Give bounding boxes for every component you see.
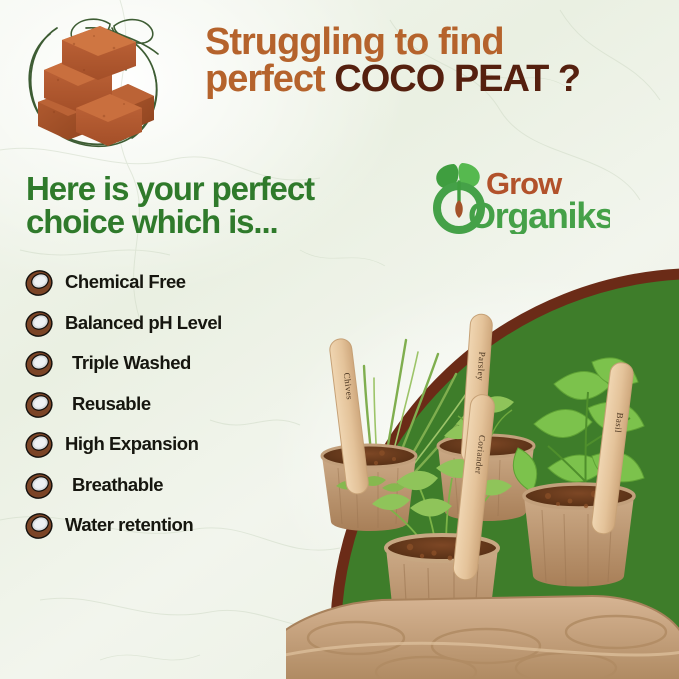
list-item: High Expansion (24, 424, 300, 465)
marker-label-parsley: Parsley (475, 351, 487, 381)
subheading-line-2: choice which is... (26, 205, 386, 238)
feature-label: Water retention (65, 514, 193, 536)
feature-label: Balanced pH Level (65, 312, 222, 334)
half-coconut-icon (24, 429, 54, 459)
feature-list: Chemical Free Balanced pH Level Trip (24, 262, 300, 546)
headline-perfect: perfect (205, 58, 334, 100)
product-photo: Chives Parsley Coriander (286, 296, 679, 679)
feature-label: Reusable (72, 393, 151, 415)
half-coconut-icon (24, 470, 54, 500)
headline-line-2: perfect COCO PEAT ? (205, 61, 675, 98)
coco-peat-bricks-badge (14, 12, 172, 162)
pulp-tray (286, 596, 679, 679)
list-item: Reusable (24, 384, 300, 425)
headline-line-1: Struggling to find (205, 24, 675, 61)
list-item: Breathable (24, 465, 300, 506)
feature-label: Triple Washed (72, 352, 191, 374)
half-coconut-icon (24, 267, 54, 297)
list-item: Chemical Free (24, 262, 300, 303)
half-coconut-icon (24, 308, 54, 338)
half-coconut-icon (24, 389, 54, 419)
page-title: Struggling to find perfect COCO PEAT ? (205, 24, 675, 98)
brand-logo: Grow Organiks (424, 162, 610, 234)
feature-label: Breathable (72, 474, 163, 496)
list-item: Balanced pH Level (24, 303, 300, 344)
list-item: Triple Washed (24, 343, 300, 384)
poster-canvas: Chives Parsley Coriander (0, 0, 679, 679)
half-coconut-icon (24, 348, 54, 378)
feature-label: Chemical Free (65, 271, 186, 293)
list-item: Water retention (24, 505, 300, 546)
subheading: Here is your perfect choice which is... (26, 172, 386, 238)
half-coconut-icon (24, 510, 54, 540)
feature-label: High Expansion (65, 433, 199, 455)
brand-name-organiks: Organiks (468, 195, 610, 234)
headline-coco-peat: COCO PEAT ? (334, 58, 580, 100)
subheading-line-1: Here is your perfect (26, 172, 386, 205)
